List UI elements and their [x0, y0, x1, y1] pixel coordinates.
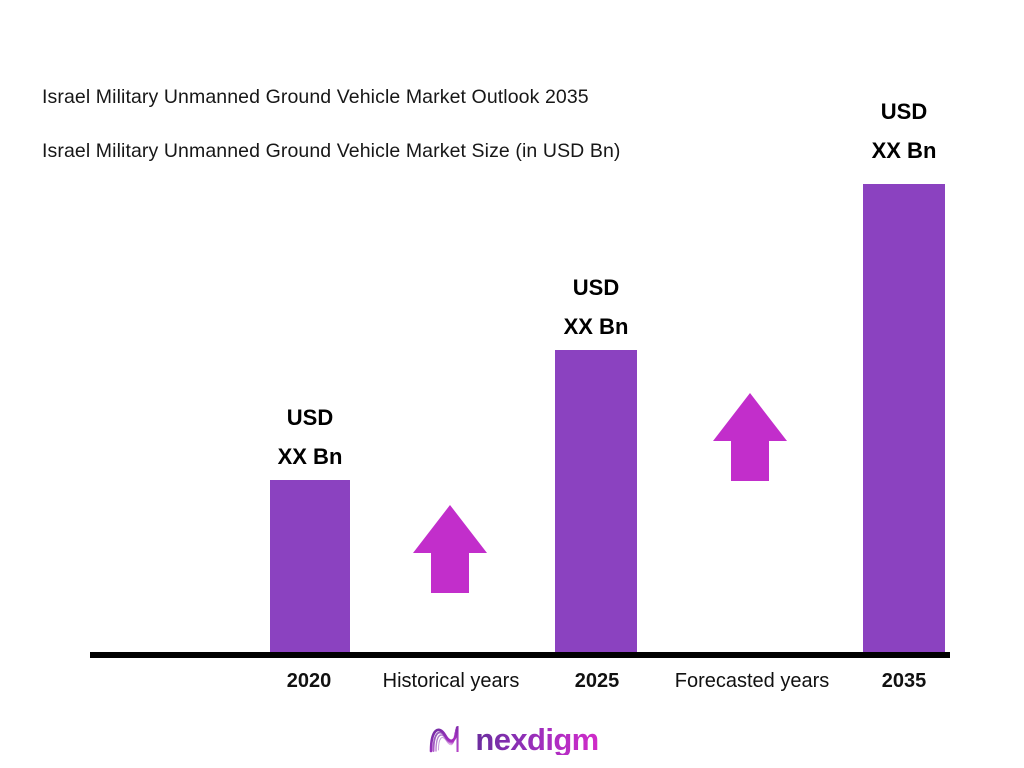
bar-2035-group	[863, 184, 945, 655]
axis-label-2025: 2025	[537, 670, 657, 693]
nexdigm-swoosh-n-mark-icon	[425, 719, 465, 759]
bar-label-2035-line1: USD	[844, 92, 964, 131]
growth-arrow-icon-2	[711, 391, 789, 485]
axis-label-2035: 2035	[844, 670, 964, 693]
axis-label-forecasted-years: Forecasted years	[652, 670, 852, 693]
bar-label-2025: USD XX Bn	[536, 268, 656, 346]
bar-2035[interactable]	[863, 184, 945, 655]
plot-area: USD XX Bn USD XX Bn USD XX Bn 20	[0, 0, 1024, 768]
axis-label-historical-years: Historical years	[351, 670, 551, 693]
x-axis-line	[90, 652, 950, 658]
chart-canvas: Israel Military Unmanned Ground Vehicle …	[0, 0, 1024, 768]
bar-2025[interactable]	[555, 350, 637, 655]
bar-label-2020: USD XX Bn	[250, 398, 370, 476]
bar-label-2020-line2: XX Bn	[250, 437, 370, 476]
bar-label-2025-line1: USD	[536, 268, 656, 307]
growth-arrow-icon-1	[411, 503, 489, 597]
bar-2020-group	[270, 480, 350, 655]
bar-label-2035: USD XX Bn	[844, 92, 964, 170]
bar-label-2025-line2: XX Bn	[536, 307, 656, 346]
bar-2025-group	[555, 350, 637, 655]
bar-2020[interactable]	[270, 480, 350, 655]
nexdigm-logo: nexdigm	[0, 716, 1024, 762]
nexdigm-wordmark: nexdigm	[475, 724, 598, 755]
bar-label-2035-line2: XX Bn	[844, 131, 964, 170]
bar-label-2020-line1: USD	[250, 398, 370, 437]
